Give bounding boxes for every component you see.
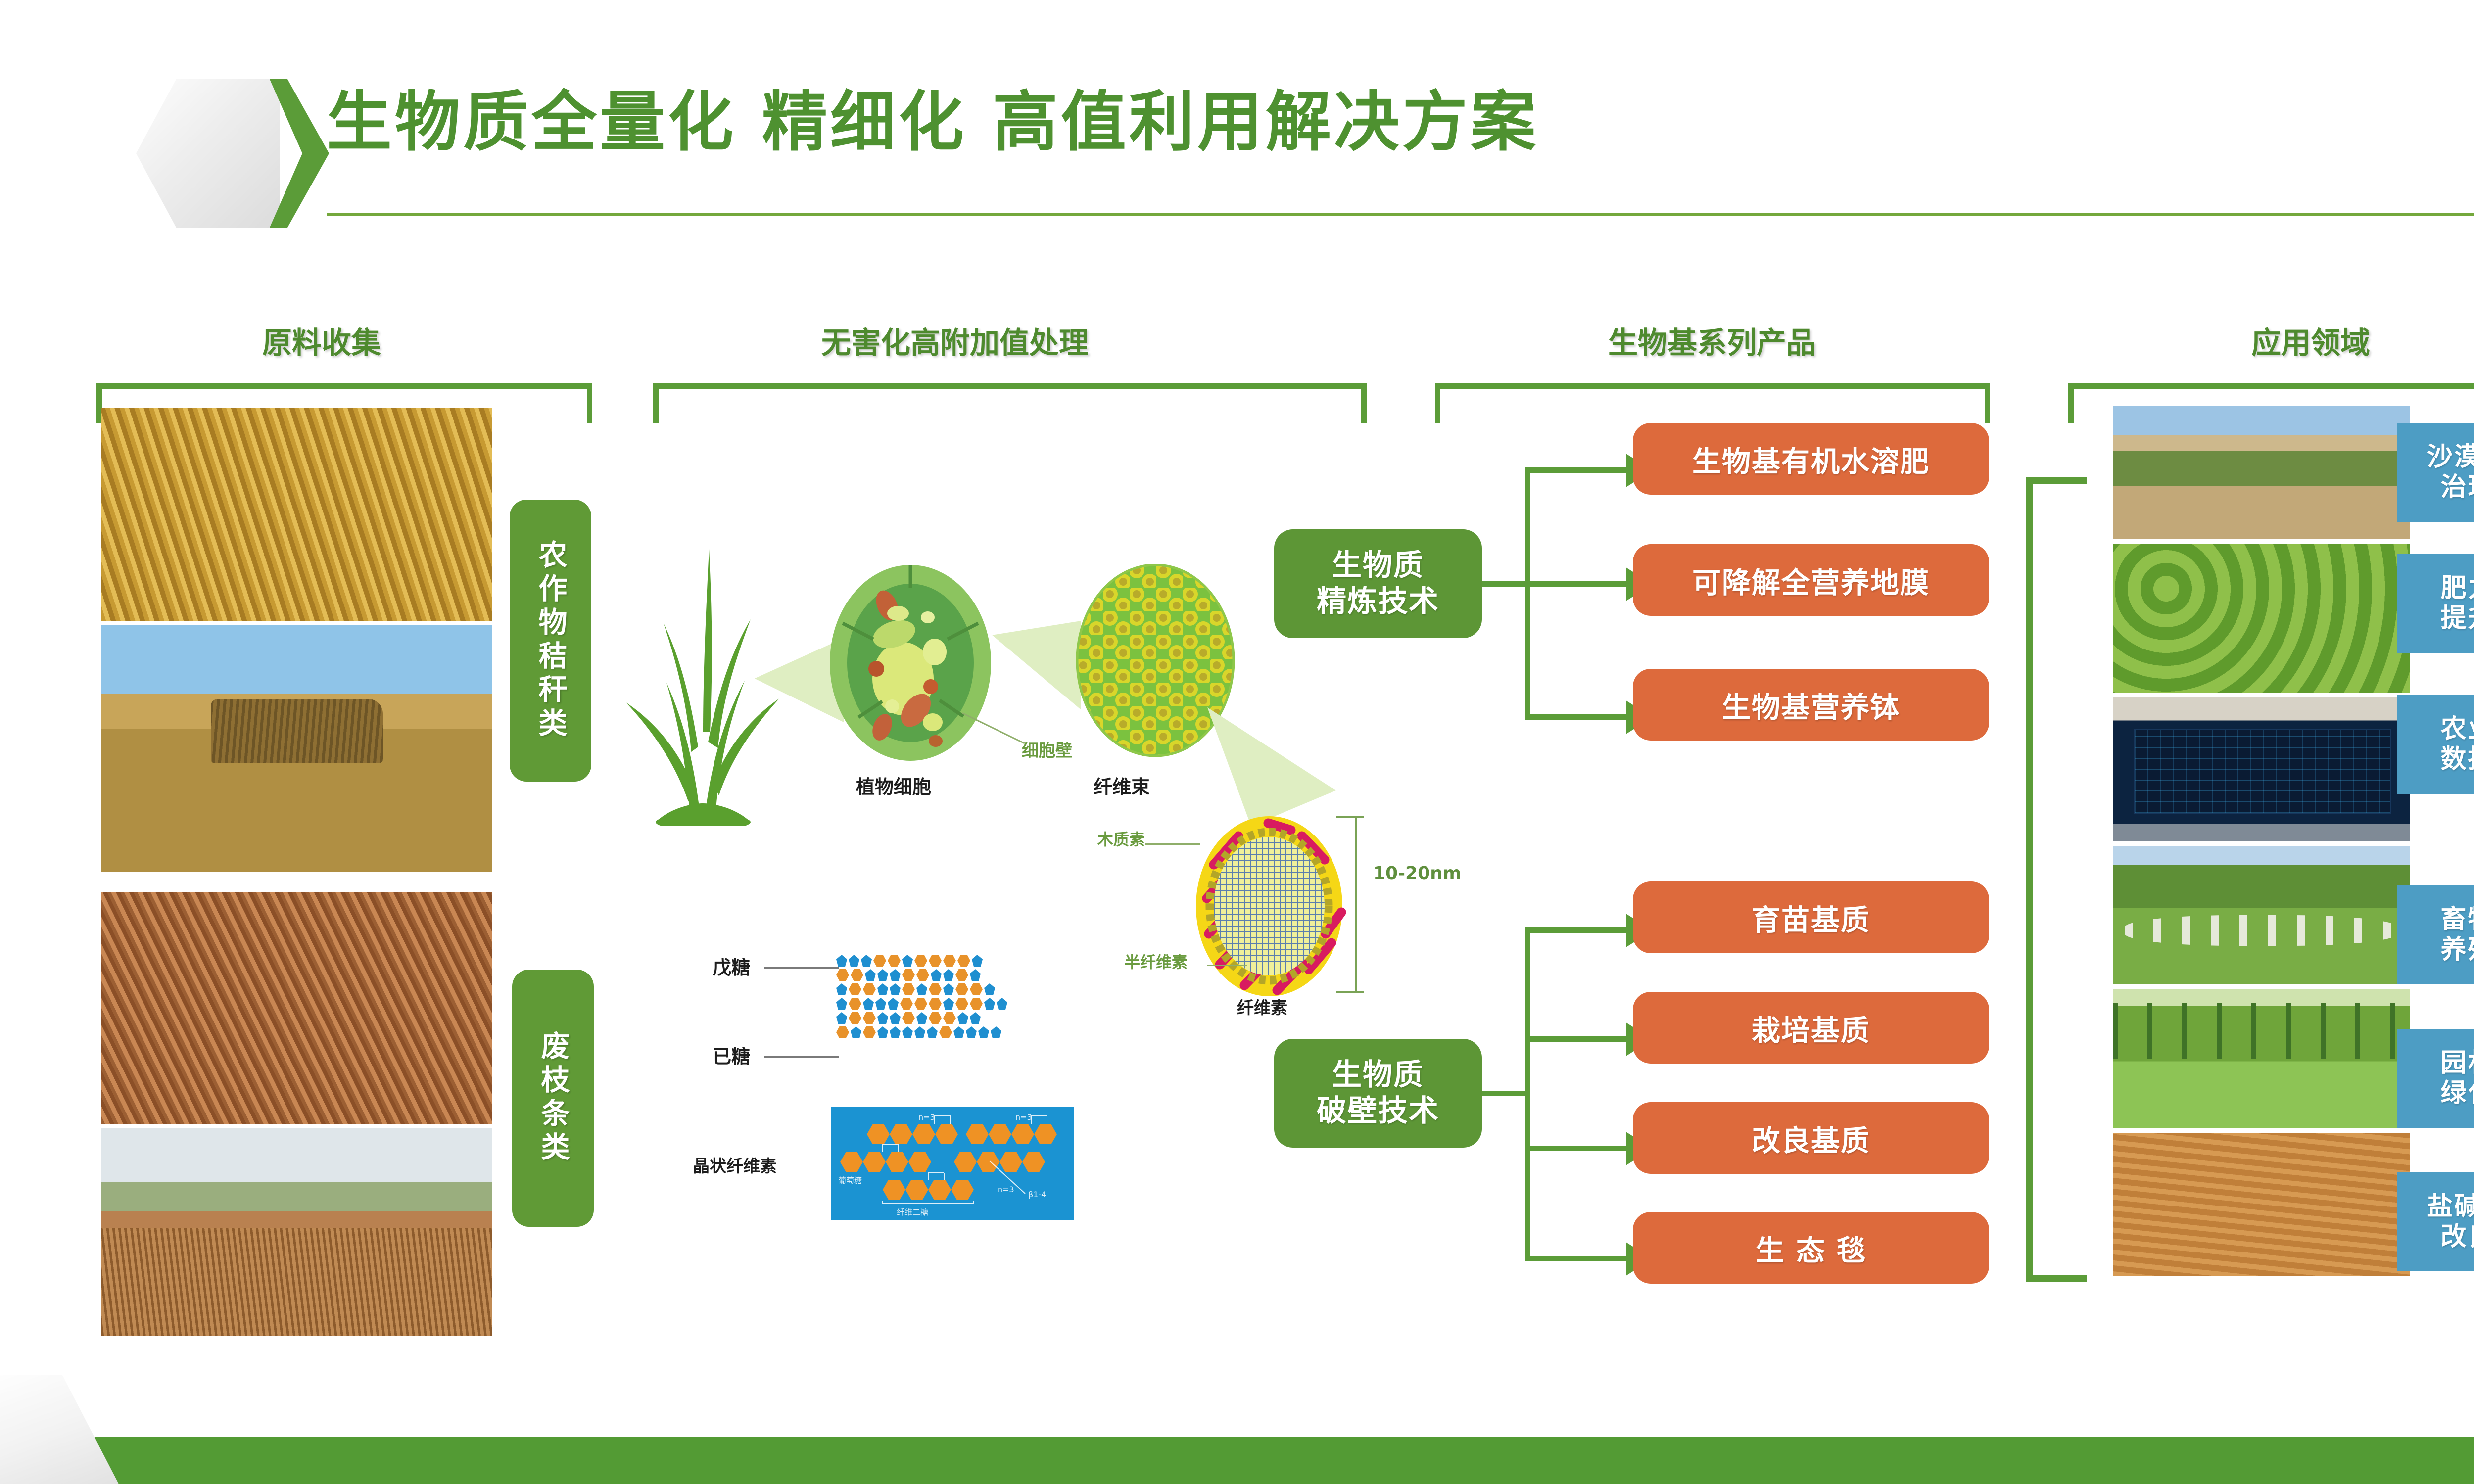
- applications-gather-bracket: [2026, 477, 2087, 1282]
- bracket-products: [1435, 383, 1990, 423]
- photo-saline-alkali-land: [2113, 1133, 2410, 1276]
- sugar-row: [836, 969, 1007, 981]
- plant-cell-illustration: [829, 564, 992, 762]
- technology-pill-refining[interactable]: 生物质 精炼技术: [1274, 529, 1482, 638]
- connector-trunk-refining: [1525, 467, 1530, 720]
- leader-line-lignin: [1145, 843, 1200, 845]
- connector-branch-cellbreak-2: [1525, 1036, 1629, 1042]
- page-title: 生物质全量化 精细化 高值利用解决方案: [327, 87, 1539, 158]
- application-label-fertility[interactable]: 肥力 提升: [2397, 554, 2474, 653]
- application-label-livestock[interactable]: 畜牧 养殖: [2397, 885, 2474, 984]
- application-label-landscaping[interactable]: 园林 绿化: [2397, 1029, 2474, 1128]
- application-desertification-line2: 治理: [2440, 472, 2474, 503]
- leader-line-hemicellulose: [1207, 965, 1247, 966]
- label-scale-10-20nm: 10-20nm: [1373, 863, 1461, 883]
- feedstock-category-crop-straw: 农作物秸秆类: [510, 500, 591, 782]
- leader-line-pentose: [764, 967, 839, 969]
- sugar-row: [836, 998, 1007, 1010]
- technology-refining-line1: 生物质: [1332, 548, 1424, 584]
- sugar-row: [836, 955, 1007, 967]
- connector-branch-refining-1: [1525, 467, 1629, 473]
- cellulose-microfibril-illustration: [1185, 801, 1353, 1009]
- application-fertility-line1: 肥力: [2440, 573, 2474, 603]
- connector-stub-refining: [1482, 581, 1529, 587]
- product-pill-ecological-blanket[interactable]: 生 态 毯: [1633, 1212, 1989, 1284]
- label-lignin: 木质素: [1097, 827, 1145, 850]
- product-pill-improvement-substrate[interactable]: 改良基质: [1633, 1102, 1989, 1174]
- application-label-desertification[interactable]: 沙漠化 治理: [2397, 423, 2474, 522]
- photo-desert-restoration: [2113, 406, 2410, 539]
- product-pill-biodegradable-mulch-film[interactable]: 可降解全营养地膜: [1633, 544, 1989, 616]
- application-saline-alkali-line2: 改良: [2440, 1222, 2474, 1252]
- photo-orchard-pruning-workers: [101, 1128, 492, 1336]
- application-landscaping-line1: 园林: [2440, 1048, 2474, 1078]
- title-underline: [327, 213, 2474, 216]
- zoom-cone-cell-to-fiber: [992, 621, 1081, 710]
- product-pill-cultivation-substrate[interactable]: 栽培基质: [1633, 992, 1989, 1064]
- feedstock-category-crop-straw-label: 农作物秸秆类: [530, 540, 571, 742]
- crystalline-cellulose-panel: 葡萄糖 纤维二糖 β1-4 n=3 n=3 n=3: [831, 1107, 1074, 1220]
- connector-branch-cellbreak-4: [1525, 1256, 1629, 1261]
- fiber-bundle-illustration: [1076, 564, 1235, 757]
- application-label-agri-data[interactable]: 农业 数据: [2397, 695, 2474, 794]
- section-header-applications: 应用领域: [2133, 319, 2474, 362]
- product-pill-seedling-substrate[interactable]: 育苗基质: [1633, 881, 1989, 953]
- label-plant-cell: 植物细胞: [856, 772, 931, 799]
- label-fiber-bundle: 纤维束: [1094, 772, 1150, 799]
- technology-pill-cellbreak[interactable]: 生物质 破壁技术: [1274, 1039, 1482, 1148]
- connector-stub-cellbreak: [1482, 1091, 1529, 1096]
- label-cellulose: 纤维素: [1237, 994, 1287, 1019]
- photo-baled-straw-field: [101, 625, 492, 872]
- photo-cabbage-field: [2113, 544, 2410, 693]
- bracket-processing: [653, 383, 1367, 423]
- label-crystalline-cellulose: 晶状纤维素: [693, 1153, 777, 1177]
- connector-branch-cellbreak-1: [1525, 927, 1629, 933]
- connector-branch-refining-3: [1525, 714, 1629, 720]
- application-agri-data-line1: 农业: [2440, 714, 2474, 744]
- application-saline-alkali-line1: 盐碱地: [2427, 1192, 2474, 1222]
- technology-cellbreak-line2: 破壁技术: [1317, 1093, 1439, 1129]
- section-header-collection: 原料收集: [163, 319, 480, 362]
- label-hemicellulose: 半纤维素: [1124, 950, 1188, 973]
- technology-refining-line2: 精炼技术: [1317, 584, 1439, 620]
- application-fertility-line2: 提升: [2440, 603, 2474, 634]
- label-pentose: 戊糖: [713, 952, 750, 979]
- technology-cellbreak-line1: 生物质: [1332, 1057, 1424, 1093]
- photo-corn-straw-field: [101, 408, 492, 621]
- sugar-chain-diagram: [836, 955, 1007, 1041]
- application-agri-data-line2: 数据: [2440, 744, 2474, 775]
- feedstock-category-waste-branches: 废枝条类: [512, 970, 594, 1227]
- scale-bar-10-20nm: [1336, 811, 1371, 999]
- product-pill-nutrient-pot[interactable]: 生物基营养钵: [1633, 669, 1989, 741]
- footer-wedge-decoration: [0, 1375, 119, 1484]
- connector-branch-cellbreak-3: [1525, 1146, 1629, 1151]
- leader-line-hexose: [764, 1056, 839, 1058]
- application-desertification-line1: 沙漠化: [2427, 442, 2474, 472]
- section-header-processing: 无害化高附加值处理: [703, 319, 1207, 362]
- application-label-saline-alkali[interactable]: 盐碱地 改良: [2397, 1172, 2474, 1271]
- application-landscaping-line2: 绿化: [2440, 1078, 2474, 1109]
- application-livestock-line2: 养殖: [2440, 935, 2474, 965]
- section-header-products: 生物基系列产品: [1450, 319, 1974, 362]
- connector-branch-refining-2: [1525, 581, 1629, 587]
- photo-landscape-greening: [2113, 989, 2410, 1128]
- photo-sheep-grazing: [2113, 846, 2410, 984]
- hexagon-decoration: [136, 79, 280, 228]
- product-pill-water-soluble-fertilizer[interactable]: 生物基有机水溶肥: [1633, 423, 1989, 495]
- feedstock-category-waste-branches-label: 废枝条类: [532, 1031, 574, 1165]
- sugar-row: [836, 983, 1007, 995]
- label-hexose: 已糖: [713, 1041, 750, 1068]
- footer-bar: [0, 1437, 2474, 1484]
- application-livestock-line1: 畜牧: [2440, 905, 2474, 935]
- infographic-slide: 生物质全量化 精细化 高值利用解决方案 原料收集 无害化高附加值处理 生物基系列…: [0, 0, 2474, 1484]
- sugar-row: [836, 1026, 1007, 1038]
- photo-pruned-branches-closeup: [101, 892, 492, 1124]
- photo-agri-data-control-room: [2113, 697, 2410, 841]
- label-cellwall: 细胞壁: [1022, 737, 1072, 761]
- sugar-row: [836, 1012, 1007, 1024]
